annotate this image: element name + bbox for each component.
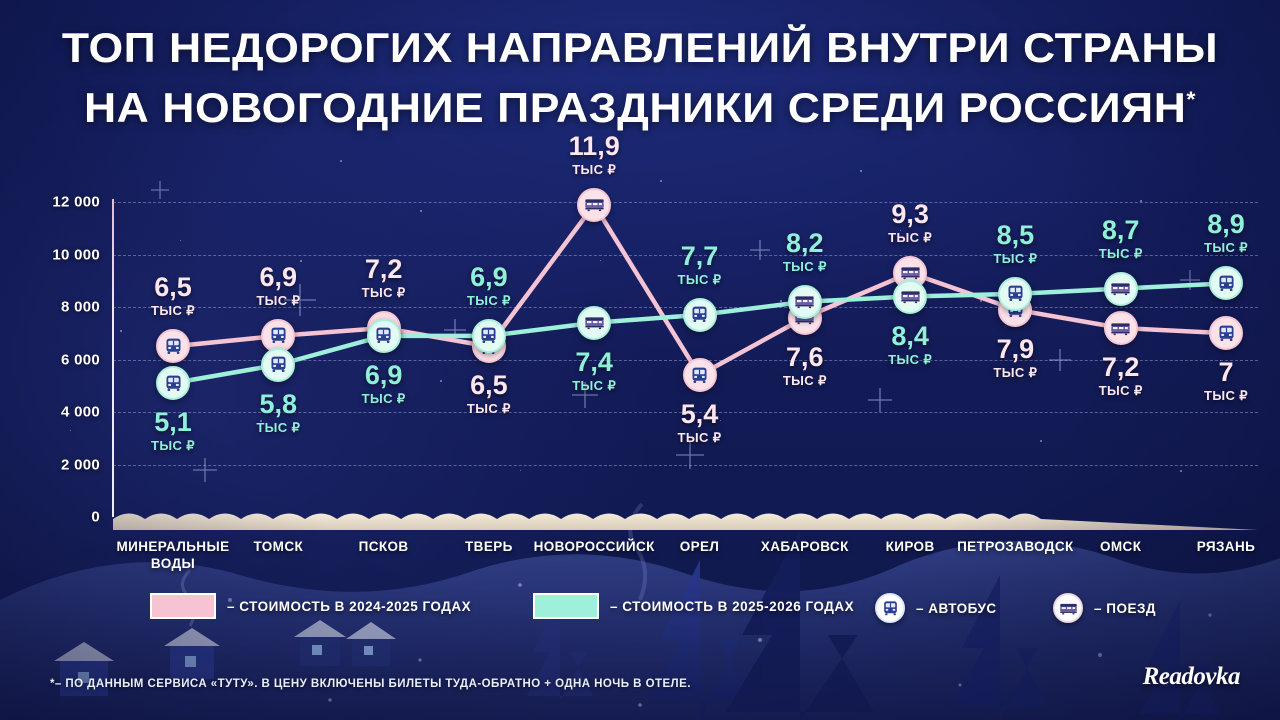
readovka-logo: Readovka	[1143, 663, 1240, 691]
data-point-киров[interactable]	[893, 280, 927, 314]
legend-label: – ПОЕЗД	[1094, 601, 1156, 616]
bus-icon	[689, 365, 710, 386]
data-point-омск[interactable]	[1104, 311, 1138, 345]
bus-icon	[689, 304, 710, 325]
value-unit: ТЫС ₽	[442, 402, 536, 415]
legend-train-icon	[1053, 593, 1083, 623]
y-axis-tick-label: 8 000	[20, 299, 100, 316]
train-icon	[1059, 599, 1078, 618]
x-axis-label-рязань: РЯЗАНЬ	[1151, 538, 1280, 555]
train-icon	[584, 312, 605, 333]
bus-icon	[1216, 273, 1237, 294]
bus-icon	[268, 354, 289, 375]
train-icon	[1110, 318, 1131, 339]
value-unit: ТЫС ₽	[1074, 384, 1168, 397]
value-number: 8,2	[758, 230, 852, 257]
title-asterisk: *	[1186, 87, 1196, 112]
value-unit: ТЫС ₽	[126, 439, 220, 452]
y-axis-tick-label: 10 000	[20, 246, 100, 263]
legend-swatch-mint	[533, 593, 599, 619]
gridline	[113, 202, 1258, 203]
value-number: 8,5	[968, 222, 1062, 249]
value-unit: ТЫС ₽	[231, 294, 325, 307]
gridline	[113, 255, 1258, 256]
y-axis-tick-label: 6 000	[20, 351, 100, 368]
train-icon	[584, 194, 605, 215]
value-unit: ТЫС ₽	[653, 273, 747, 286]
title-line-2: НА НОВОГОДНИЕ ПРАЗДНИКИ СРЕДИ РОССИЯН*	[0, 74, 1280, 134]
data-point-новороссийск[interactable]	[577, 306, 611, 340]
value-label: 9,3ТЫС ₽	[863, 201, 957, 244]
value-number: 6,9	[337, 362, 431, 389]
value-label: 7ТЫС ₽	[1179, 359, 1273, 402]
legend-item-s2425: – СТОИМОСТЬ В 2024-2025 ГОДАХ	[150, 593, 471, 619]
legend-item-train: – ПОЕЗД	[1053, 593, 1156, 623]
train-icon	[794, 291, 815, 312]
value-label: 5,1ТЫС ₽	[126, 409, 220, 452]
value-unit: ТЫС ₽	[758, 374, 852, 387]
data-point-рязань[interactable]	[1209, 316, 1243, 350]
footnote-text: *– ПО ДАННЫМ СЕРВИСА «ТУТУ». В ЦЕНУ ВКЛЮ…	[50, 678, 691, 690]
value-unit: ТЫС ₽	[442, 294, 536, 307]
value-number: 7,4	[547, 349, 641, 376]
value-unit: ТЫС ₽	[653, 431, 747, 444]
value-number: 6,9	[442, 264, 536, 291]
value-number: 7,2	[337, 256, 431, 283]
legend-bus-icon	[875, 593, 905, 623]
gridline	[113, 465, 1258, 466]
y-axis-tick-label: 0	[20, 509, 100, 526]
value-label: 6,5ТЫС ₽	[126, 274, 220, 317]
value-label: 8,5ТЫС ₽	[968, 222, 1062, 265]
value-number: 9,3	[863, 201, 957, 228]
value-unit: ТЫС ₽	[863, 231, 957, 244]
bus-icon	[478, 325, 499, 346]
y-axis-tick-label: 4 000	[20, 404, 100, 421]
value-label: 7,7ТЫС ₽	[653, 243, 747, 286]
bus-icon	[1005, 283, 1026, 304]
page-title: ТОП НЕДОРОГИХ НАПРАВЛЕНИЙ ВНУТРИ СТРАНЫ …	[0, 22, 1280, 134]
bus-icon	[163, 373, 184, 394]
y-axis-tick-label: 2 000	[20, 456, 100, 473]
bus-icon	[163, 336, 184, 357]
value-label: 7,2ТЫС ₽	[337, 256, 431, 299]
gridline	[113, 412, 1258, 413]
train-icon	[900, 286, 921, 307]
data-point-новороссийск[interactable]	[577, 188, 611, 222]
value-label: 7,9ТЫС ₽	[968, 336, 1062, 379]
value-label: 7,6ТЫС ₽	[758, 344, 852, 387]
value-label: 8,7ТЫС ₽	[1074, 217, 1168, 260]
legend-swatch-pink	[150, 593, 216, 619]
value-number: 7,2	[1074, 354, 1168, 381]
data-point-орел[interactable]	[683, 358, 717, 392]
data-point-псков[interactable]	[367, 319, 401, 353]
series-line-2024-2025	[173, 205, 1226, 376]
value-label: 6,9ТЫС ₽	[442, 264, 536, 307]
legend-item-s2526: – СТОИМОСТЬ В 2025-2026 ГОДАХ	[533, 593, 854, 619]
value-number: 5,1	[126, 409, 220, 436]
value-number: 7	[1179, 359, 1273, 386]
train-icon	[1110, 278, 1131, 299]
value-number: 7,6	[758, 344, 852, 371]
value-unit: ТЫС ₽	[337, 392, 431, 405]
y-axis-tick-label: 12 000	[20, 194, 100, 211]
legend-label: – АВТОБУС	[916, 601, 997, 616]
title-line-1: ТОП НЕДОРОГИХ НАПРАВЛЕНИЙ ВНУТРИ СТРАНЫ	[0, 22, 1280, 74]
bus-icon	[881, 599, 900, 618]
value-unit: ТЫС ₽	[547, 163, 641, 176]
value-unit: ТЫС ₽	[337, 286, 431, 299]
value-number: 7,7	[653, 243, 747, 270]
data-point-рязань[interactable]	[1209, 266, 1243, 300]
value-number: 8,7	[1074, 217, 1168, 244]
legend-item-bus: – АВТОБУС	[875, 593, 997, 623]
value-unit: ТЫС ₽	[758, 260, 852, 273]
value-unit: ТЫС ₽	[231, 421, 325, 434]
data-point-хабаровск[interactable]	[788, 285, 822, 319]
value-number: 5,4	[653, 401, 747, 428]
value-number: 6,9	[231, 264, 325, 291]
data-point-омск[interactable]	[1104, 272, 1138, 306]
value-number: 8,9	[1179, 211, 1273, 238]
legend-label: – СТОИМОСТЬ В 2025-2026 ГОДАХ	[610, 599, 854, 614]
value-number: 6,5	[442, 372, 536, 399]
chart-legend: – СТОИМОСТЬ В 2024-2025 ГОДАХ– СТОИМОСТЬ…	[0, 593, 1280, 633]
value-label: 6,9ТЫС ₽	[337, 362, 431, 405]
legend-label: – СТОИМОСТЬ В 2024-2025 ГОДАХ	[227, 599, 471, 614]
value-number: 6,5	[126, 274, 220, 301]
value-label: 8,2ТЫС ₽	[758, 230, 852, 273]
data-point-минеральные-воды[interactable]	[156, 366, 190, 400]
data-point-томск[interactable]	[261, 348, 295, 382]
value-unit: ТЫС ₽	[1074, 247, 1168, 260]
value-unit: ТЫС ₽	[1179, 241, 1273, 254]
value-number: 8,4	[863, 323, 957, 350]
value-number: 5,8	[231, 391, 325, 418]
bus-icon	[268, 325, 289, 346]
value-unit: ТЫС ₽	[547, 379, 641, 392]
value-label: 5,4ТЫС ₽	[653, 401, 747, 444]
value-number: 11,9	[547, 133, 641, 160]
value-unit: ТЫС ₽	[1179, 389, 1273, 402]
value-label: 7,4ТЫС ₽	[547, 349, 641, 392]
y-axis-line	[112, 199, 114, 517]
data-point-минеральные-воды[interactable]	[156, 329, 190, 363]
value-unit: ТЫС ₽	[968, 366, 1062, 379]
value-label: 8,9ТЫС ₽	[1179, 211, 1273, 254]
data-point-тверь[interactable]	[472, 319, 506, 353]
value-label: 11,9ТЫС ₽	[547, 133, 641, 176]
value-label: 6,9ТЫС ₽	[231, 264, 325, 307]
data-point-орел[interactable]	[683, 298, 717, 332]
bus-icon	[1216, 323, 1237, 344]
bus-icon	[373, 325, 394, 346]
data-point-петрозаводск[interactable]	[998, 277, 1032, 311]
value-label: 6,5ТЫС ₽	[442, 372, 536, 415]
